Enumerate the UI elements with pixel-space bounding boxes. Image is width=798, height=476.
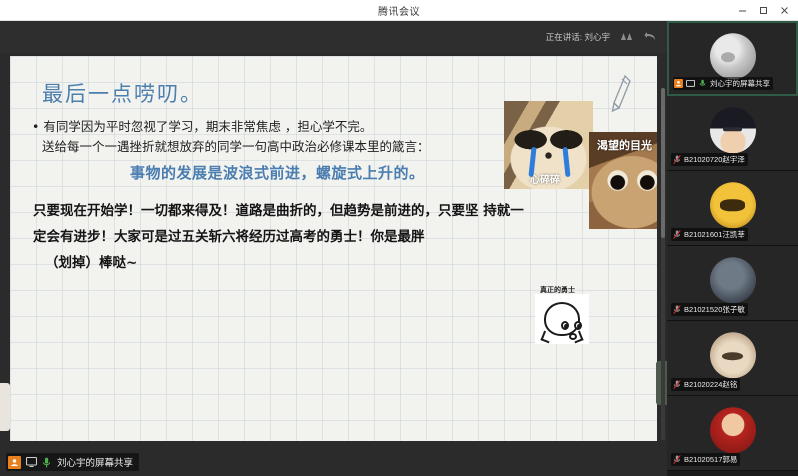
dog-caption: 心碎碎	[530, 171, 560, 186]
participant-rail[interactable]: 刘心宇的屏幕共享 B21020720赵宇泽 B210	[667, 21, 798, 476]
microphone-muted-icon	[672, 455, 681, 464]
person-orange-icon	[8, 456, 21, 469]
participant-name: 刘心宇的屏幕共享	[710, 78, 770, 89]
avatar	[710, 257, 756, 303]
presentation-slide: 最后一点唠叨。 • 有同学因为平时忽视了学习，期末非常焦虑 ，担心学不完。 送给…	[10, 56, 657, 441]
participant-label-2: B21021601汪凯莘	[671, 228, 748, 241]
participant-name: B21020720赵宇泽	[684, 154, 745, 165]
avatar	[710, 182, 756, 228]
screen-share-icon	[25, 456, 38, 469]
participant-tile-2[interactable]: B21021601汪凯莘	[667, 171, 798, 246]
share-status-pill[interactable]: 刘心宇的屏幕共享	[6, 453, 139, 471]
current-speaker-label: 正在讲话: 刘心宇	[546, 31, 610, 43]
microphone-muted-icon	[672, 305, 681, 314]
microphone-icon	[698, 79, 707, 88]
participant-label-3: B21021520张子敏	[671, 303, 748, 316]
shared-screen-area[interactable]: 最后一点唠叨。 • 有同学因为平时忽视了学习，期末非常焦虑 ，担心学不完。 送给…	[0, 53, 667, 448]
tencent-meeting-window: 腾讯会议 正在讲话: 刘心宇	[0, 0, 798, 476]
participant-tile-1[interactable]: B21020720赵宇泽	[667, 96, 798, 171]
participant-label-4: B21020224赵铭	[671, 378, 740, 391]
meeting-body: 正在讲话: 刘心宇 最后一点唠叨。 • 有同学因为平时忽视了学习，期末非常焦虑 …	[0, 21, 798, 476]
participant-name: B21020224赵铭	[684, 379, 737, 390]
audio-wave-icon[interactable]	[619, 31, 635, 43]
tear-right-decor	[562, 147, 570, 177]
reply-icon[interactable]	[644, 31, 657, 43]
slide-paragraph: 只要现在开始学！一切都来得及！道路是曲折的，但趋势是前进的，只要坚 持就一定会有…	[33, 198, 533, 276]
bullet-line-1: • 有同学因为平时忽视了学习，期末非常焦虑 ，担心学不完。	[32, 119, 372, 134]
window-controls	[732, 0, 794, 21]
avatar	[710, 33, 756, 79]
participant-tile-4[interactable]: B21020224赵铭	[667, 321, 798, 396]
bottom-share-bar: 刘心宇的屏幕共享	[0, 448, 667, 476]
bullet-line-2: 送给每一个一遇挫折就想放弃的同学一句高中政治必修课本里的箴言：	[32, 137, 522, 157]
participant-label-0: 刘心宇的屏幕共享	[673, 77, 773, 90]
slide-left-tab-decor	[0, 383, 10, 431]
microphone-muted-icon	[672, 155, 681, 164]
window-title: 腾讯会议	[378, 3, 420, 18]
avatar	[710, 332, 756, 378]
microphone-muted-icon	[672, 380, 681, 389]
bottom-share-label: 刘心宇的屏幕共享	[57, 455, 133, 469]
title-bar: 腾讯会议	[0, 0, 798, 21]
pencil-icon	[611, 74, 633, 116]
paragraph-line-1: 只要现在开始学！一切都来得及！道路是曲折的，但趋势是前进的，只要坚	[33, 203, 479, 219]
microphone-muted-icon	[672, 230, 681, 239]
participant-tile-3[interactable]: B21021520张子敏	[667, 246, 798, 321]
avatar	[710, 407, 756, 453]
share-scrollbar-thumb[interactable]	[661, 88, 665, 238]
person-orange-icon	[674, 79, 683, 88]
participant-tile-5[interactable]: B21020517郭易	[667, 396, 798, 471]
slide-title: 最后一点唠叨。	[42, 78, 203, 108]
sticker-arm-right-decor	[571, 331, 583, 344]
sticker-eye-right-decor	[574, 321, 582, 330]
cat-caption: 渴望的目光	[597, 137, 652, 153]
minimize-icon[interactable]	[732, 1, 752, 20]
participant-label-5: B21020517郭易	[671, 453, 740, 466]
sticker-arm-left-decor	[540, 331, 552, 344]
participant-tile-0[interactable]: 刘心宇的屏幕共享	[667, 21, 798, 96]
avatar	[710, 107, 756, 153]
participant-name: B21021601汪凯莘	[684, 229, 745, 240]
microphone-icon	[42, 456, 53, 469]
slide-quote: 事物的发展是波浪式前进，螺旋式上升的。	[130, 162, 530, 183]
sticker-head-decor	[544, 302, 580, 336]
paragraph-line-3: （划掉）棒哒~	[33, 250, 533, 276]
screen-share-icon	[686, 79, 695, 88]
crying-dog-image: 心碎碎	[504, 101, 593, 189]
cat-image: 渴望的目光	[589, 132, 657, 229]
maximize-icon[interactable]	[753, 1, 773, 20]
speaker-status-bar: 正在讲话: 刘心宇	[0, 21, 667, 53]
brave-warrior-sticker	[535, 294, 589, 344]
participant-name: B21020517郭易	[684, 454, 737, 465]
close-icon[interactable]	[774, 1, 794, 20]
participant-name: B21021520张子敏	[684, 304, 745, 315]
slide-bullet-text: • 有同学因为平时忽视了学习，期末非常焦虑 ，担心学不完。 送给每一个一遇挫折就…	[32, 117, 522, 157]
participant-label-1: B21020720赵宇泽	[671, 153, 748, 166]
sticker-eye-left-decor	[561, 321, 569, 330]
